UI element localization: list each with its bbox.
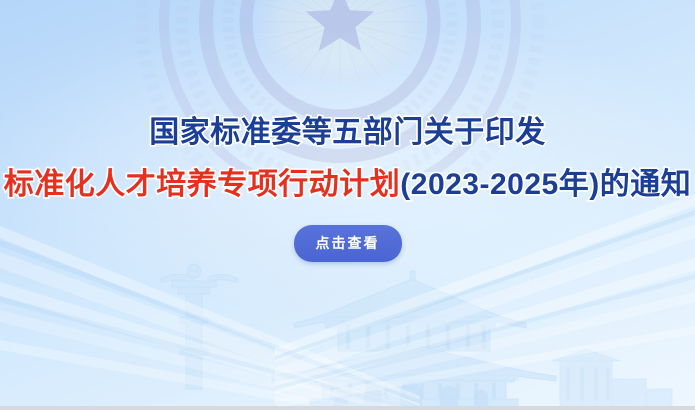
cta-container: 点击查看	[294, 225, 402, 262]
banner-title-suffix: (2023-2025年)的通知	[400, 168, 691, 201]
banner-title-line-2: 标准化人才培养专项行动计划(2023-2025年)的通知	[0, 170, 695, 200]
footer-strip	[0, 406, 695, 410]
banner-title-highlight: 标准化人才培养专项行动计划	[4, 168, 401, 201]
banner-content: 国家标准委等五部门关于印发 标准化人才培养专项行动计划(2023-2025年)的…	[0, 0, 695, 410]
announcement-banner: 国家标准委等五部门关于印发 标准化人才培养专项行动计划(2023-2025年)的…	[0, 0, 695, 410]
view-details-button[interactable]: 点击查看	[294, 225, 402, 262]
banner-title-line-1: 国家标准委等五部门关于印发	[0, 118, 695, 148]
